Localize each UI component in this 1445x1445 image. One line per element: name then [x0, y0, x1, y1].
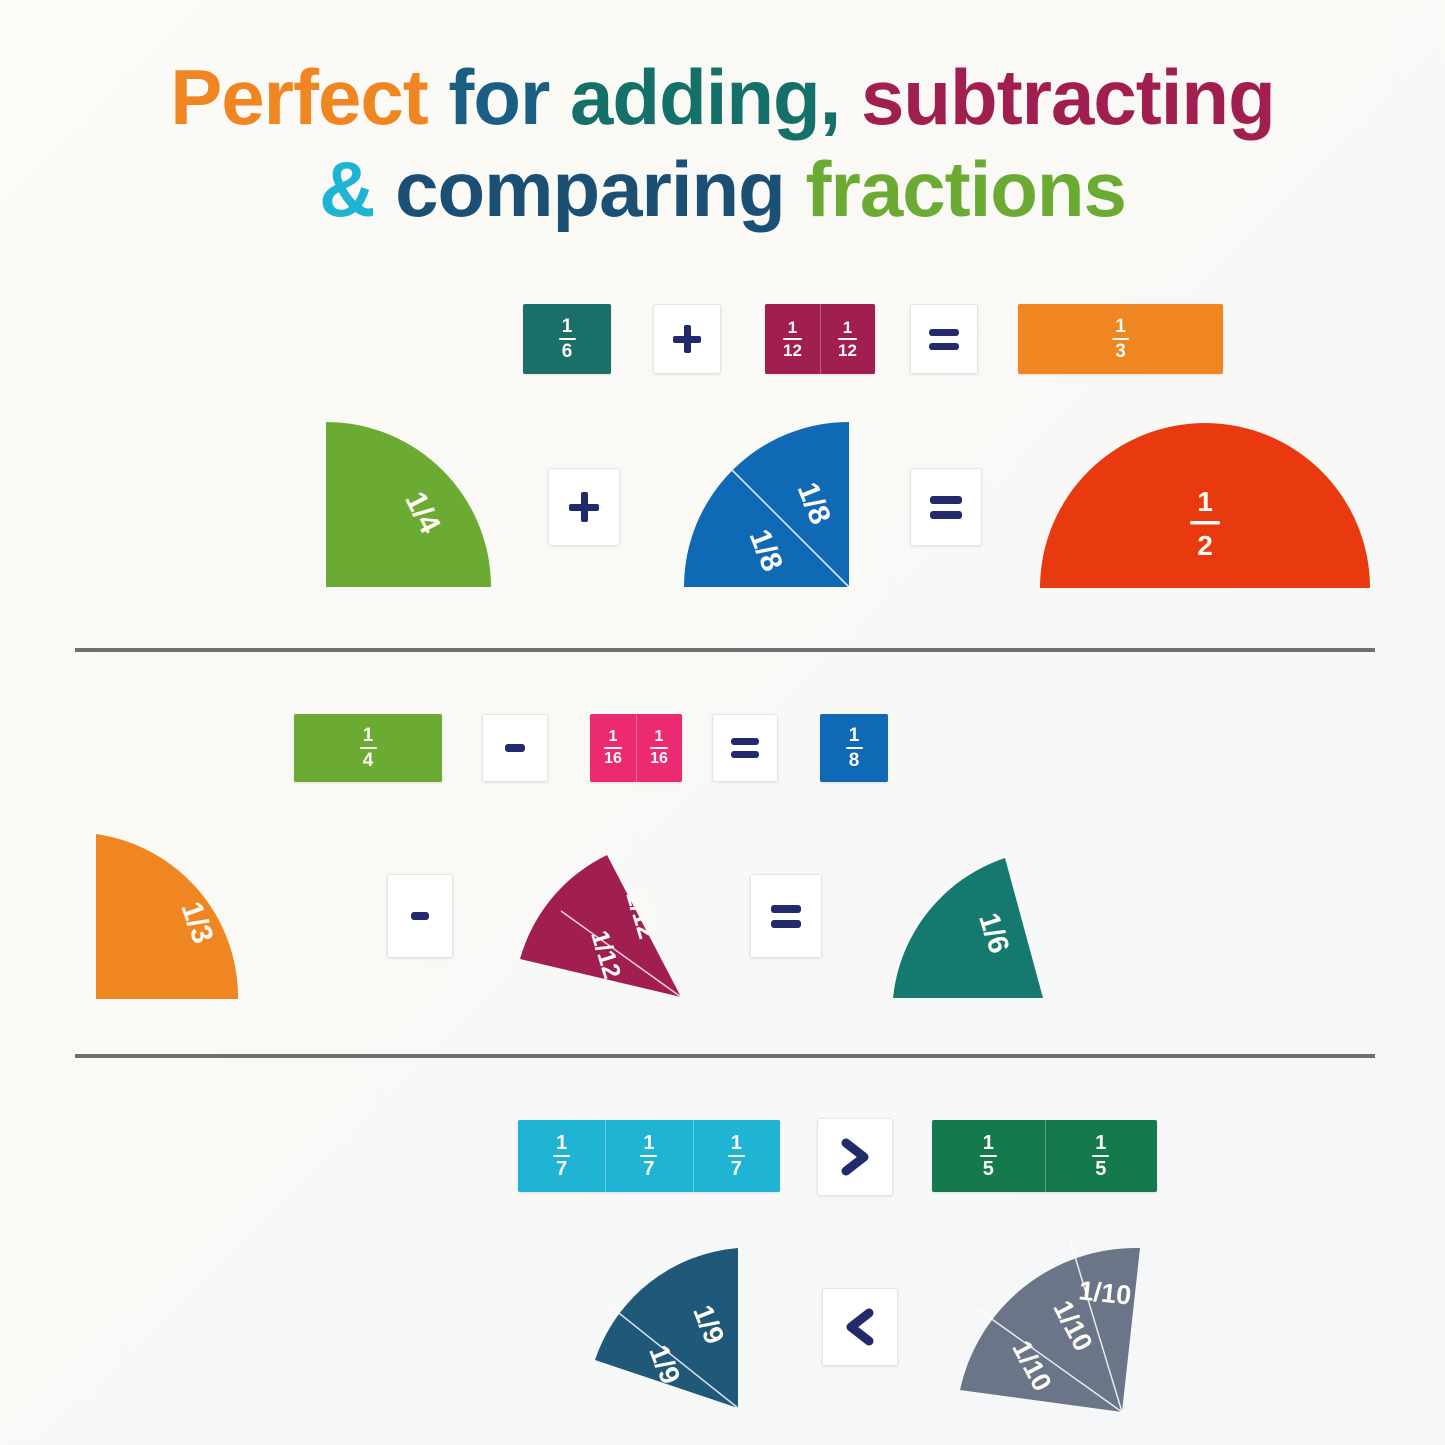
fraction-circle-one-sixth[interactable]: 1/6 [885, 858, 1050, 998]
denominator: 7 [731, 1159, 742, 1179]
bar-cell: 1 5 [932, 1120, 1045, 1192]
bar-cell: 1 7 [605, 1120, 692, 1192]
fraction-circle-two-eighths[interactable]: 1/8 1/8 [679, 422, 849, 587]
sector-label-denominator: 2 [1197, 530, 1213, 561]
numerator: 1 [849, 726, 860, 745]
fraction-bar-one-quarter[interactable]: 1 4 [294, 714, 442, 782]
denominator: 7 [643, 1159, 654, 1179]
fraction-circle-three-tenths[interactable]: 1/10 1/10 1/10 [952, 1240, 1152, 1420]
title-word-comparing: comparing [395, 150, 785, 228]
denominator: 16 [604, 751, 622, 767]
fraction-bar-two-twelfths[interactable]: 1 12 1 12 [765, 304, 875, 374]
title-word-subtracting: subtracting [861, 58, 1275, 136]
chevron-right-icon [838, 1138, 872, 1176]
numerator: 1 [1095, 1133, 1106, 1153]
bar-cell: 1 12 [765, 304, 820, 374]
fraction-bar-two-sixteenths[interactable]: 1 16 1 16 [590, 714, 682, 782]
numerator: 1 [363, 726, 374, 745]
denominator: 5 [983, 1159, 994, 1179]
equals-operator-card[interactable] [910, 468, 982, 546]
bar-cell: 1 12 [820, 304, 875, 374]
equals-operator-card[interactable] [750, 874, 822, 958]
title-word-ampersand: & [319, 150, 374, 228]
numerator: 1 [562, 317, 573, 336]
numerator: 1 [843, 319, 852, 336]
less-than-operator-card[interactable] [822, 1288, 898, 1366]
numerator: 1 [983, 1133, 994, 1153]
numerator: 1 [655, 729, 664, 745]
section-divider-2 [75, 1054, 1375, 1058]
fraction-circle-one-quarter[interactable]: 1/4 [326, 422, 496, 587]
sector-label-bar [1190, 521, 1220, 525]
bar-cell: 1 7 [693, 1120, 780, 1192]
denominator: 3 [1115, 342, 1126, 361]
denominator: 12 [783, 342, 802, 359]
equals-operator-card[interactable] [910, 304, 978, 374]
equals-icon [930, 496, 962, 519]
fraction-manipulatives-poster: Perfect for adding, subtracting & compar… [0, 0, 1445, 1445]
bar-cell: 1 5 [1045, 1120, 1158, 1192]
fraction-circle-two-ninths[interactable]: 1/9 1/9 [590, 1248, 750, 1413]
minus-operator-card[interactable] [482, 714, 548, 782]
plus-operator-card[interactable] [653, 304, 721, 374]
minus-icon [411, 912, 429, 920]
minus-operator-card[interactable] [387, 874, 453, 958]
fraction-bar-one-third[interactable]: 1 3 [1018, 304, 1223, 374]
title-word-adding: adding, [570, 58, 840, 136]
title-word-fractions: fractions [806, 150, 1126, 228]
denominator: 6 [562, 342, 573, 361]
fraction-bar-two-fifths[interactable]: 1 5 1 5 [932, 1120, 1157, 1192]
plus-operator-card[interactable] [548, 468, 620, 546]
page-title: Perfect for adding, subtracting & compar… [0, 58, 1445, 228]
fraction-circle-one-third[interactable]: 1/3 [78, 834, 318, 999]
greater-than-operator-card[interactable] [817, 1118, 893, 1196]
fraction-bar-three-sevenths[interactable]: 1 7 1 7 1 7 [518, 1120, 780, 1192]
denominator: 5 [1095, 1159, 1106, 1179]
bar-cell: 1 6 [523, 304, 611, 374]
bar-cell: 1 8 [820, 714, 888, 782]
bar-cell: 1 3 [1018, 304, 1223, 374]
title-word-perfect: Perfect [170, 58, 427, 136]
plus-icon [569, 492, 599, 522]
equals-icon [731, 738, 759, 758]
plus-icon [673, 325, 701, 353]
equals-operator-card[interactable] [712, 714, 778, 782]
fraction-circle-one-half[interactable]: 1 2 [1040, 423, 1370, 588]
chevron-left-icon [843, 1308, 877, 1346]
bar-cell: 1 4 [294, 714, 442, 782]
numerator: 1 [609, 729, 618, 745]
minus-icon [505, 744, 525, 752]
sector-label: 1/10 [1077, 1275, 1132, 1310]
section-divider-1 [75, 648, 1375, 652]
equals-icon [929, 329, 959, 350]
fraction-bar-one-sixth[interactable]: 1 6 [523, 304, 611, 374]
sector-label-numerator: 1 [1197, 486, 1213, 517]
bar-cell: 1 16 [636, 714, 682, 782]
equals-icon [771, 905, 801, 928]
denominator: 16 [650, 751, 668, 767]
denominator: 8 [849, 751, 860, 770]
numerator: 1 [556, 1133, 567, 1153]
numerator: 1 [731, 1133, 742, 1153]
bar-cell: 1 7 [518, 1120, 605, 1192]
fraction-bar-one-eighth[interactable]: 1 8 [820, 714, 888, 782]
numerator: 1 [788, 319, 797, 336]
numerator: 1 [643, 1133, 654, 1153]
fraction-circle-two-twelfths[interactable]: 1/12 1/12 [515, 855, 685, 997]
bar-cell: 1 16 [590, 714, 636, 782]
denominator: 4 [363, 751, 374, 770]
denominator: 12 [838, 342, 857, 359]
title-word-for: for [448, 58, 549, 136]
numerator: 1 [1115, 317, 1126, 336]
denominator: 7 [556, 1159, 567, 1179]
